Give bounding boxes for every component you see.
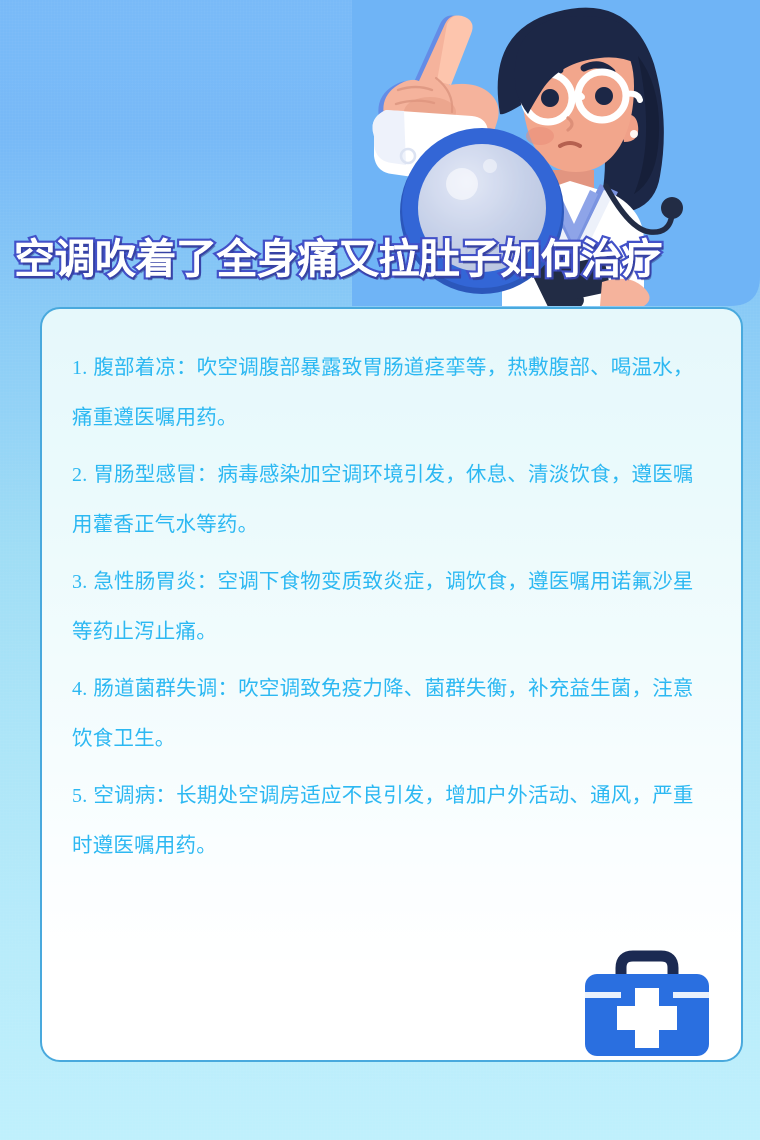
list-item-number: 3. — [72, 571, 87, 593]
first-aid-kit-icon — [577, 944, 717, 1060]
list-item-number: 4. — [72, 678, 87, 700]
list-item-text: 急性肠胃炎：空调下食物变质致炎症，调饮食，遵医嘱用诺氟沙星等药止泻止痛。 — [72, 570, 694, 643]
list-item-text: 腹部着凉：吹空调腹部暴露致胃肠道痉挛等，热敷腹部、喝温水，痛重遵医嘱用药。 — [72, 356, 694, 429]
list-item: 2. 胃肠型感冒：病毒感染加空调环境引发，休息、清淡饮食，遵医嘱用藿香正气水等药… — [72, 450, 711, 549]
list-item-number: 5. — [72, 785, 87, 807]
list-item: 1. 腹部着凉：吹空调腹部暴露致胃肠道痉挛等，热敷腹部、喝温水，痛重遵医嘱用药。 — [72, 343, 711, 442]
list-item-number: 2. — [72, 464, 87, 486]
list-item: 3. 急性肠胃炎：空调下食物变质致炎症，调饮食，遵医嘱用诺氟沙星等药止泻止痛。 — [72, 557, 711, 656]
list-item-text: 空调病：长期处空调房适应不良引发，增加户外活动、通风，严重时遵医嘱用药。 — [72, 784, 694, 857]
list-item: 5. 空调病：长期处空调房适应不良引发，增加户外活动、通风，严重时遵医嘱用药。 — [72, 771, 711, 870]
list-item: 4. 肠道菌群失调：吹空调致免疫力降、菌群失衡，补充益生菌，注意饮食卫生。 — [72, 664, 711, 763]
list-item-text: 肠道菌群失调：吹空调致免疫力降、菌群失衡，补充益生菌，注意饮食卫生。 — [72, 677, 694, 750]
kit-stripe-left — [585, 992, 621, 998]
content-list: 1. 腹部着凉：吹空调腹部暴露致胃肠道痉挛等，热敷腹部、喝温水，痛重遵医嘱用药。… — [42, 309, 741, 870]
stethoscope-bell — [661, 197, 683, 219]
poster-root: 空调吹着了全身痛又拉肚子如何治疗 空调吹着了全身痛又拉肚子如何治疗 1. 腹部着… — [0, 0, 760, 1140]
list-item-text: 胃肠型感冒：病毒感染加空调环境引发，休息、清淡饮食，遵医嘱用藿香正气水等药。 — [72, 463, 694, 536]
page-title: 空调吹着了全身痛又拉肚子如何治疗 — [14, 230, 662, 288]
kit-stripe-right — [673, 992, 709, 998]
content-card: 1. 腹部着凉：吹空调腹部暴露致胃肠道痉挛等，热敷腹部、喝温水，痛重遵医嘱用药。… — [40, 307, 743, 1062]
list-item-number: 1. — [72, 357, 87, 379]
